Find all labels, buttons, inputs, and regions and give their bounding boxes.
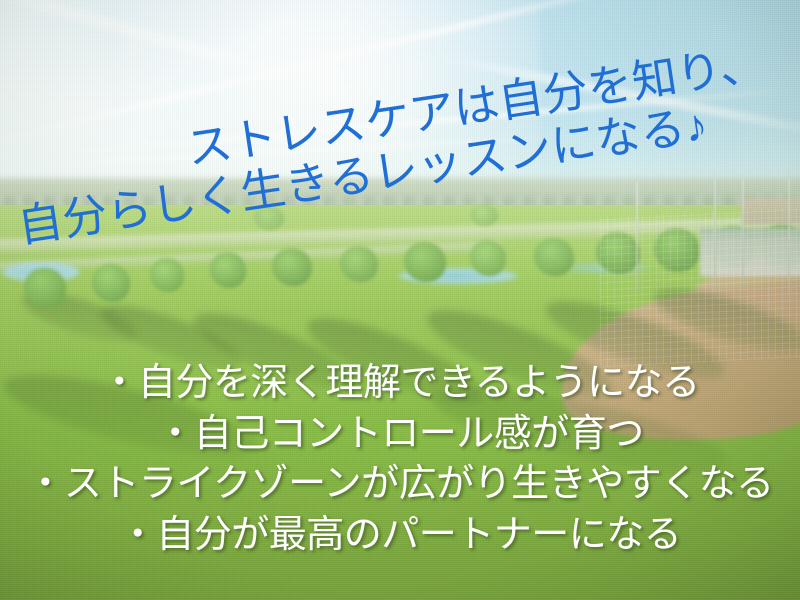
light-pole (742, 178, 744, 288)
bullet-item: ・ストライクゾーンが広がり生きやすくなる (0, 459, 800, 510)
tree-canopy (254, 206, 284, 230)
tree-canopy (150, 258, 184, 292)
tree-canopy (340, 246, 378, 282)
tree-canopy (24, 268, 66, 308)
slide-canvas: ストレスケアは自分を知り、 自分らしく生きるレッスンになる♪ ・自分を深く理解で… (0, 0, 800, 600)
tree-canopy (470, 204, 498, 226)
field-fence (600, 206, 800, 367)
tree-canopy (272, 248, 312, 286)
light-pole (714, 172, 716, 292)
tree-canopy (470, 240, 506, 276)
bullet-item: ・自分が最高のパートナーになる (0, 510, 800, 561)
light-pole (636, 182, 638, 294)
tree-canopy (404, 242, 446, 282)
light-pole (788, 168, 790, 298)
bullet-item: ・自己コントロール感が育つ (0, 409, 800, 460)
bullet-item: ・自分を深く理解できるようになる (0, 358, 800, 409)
tree-canopy (92, 264, 130, 302)
benefit-bullet-list: ・自分を深く理解できるようになる ・自己コントロール感が育つ ・ストライクゾーン… (0, 358, 800, 560)
tree-canopy (534, 238, 574, 276)
tree-canopy (210, 252, 246, 288)
